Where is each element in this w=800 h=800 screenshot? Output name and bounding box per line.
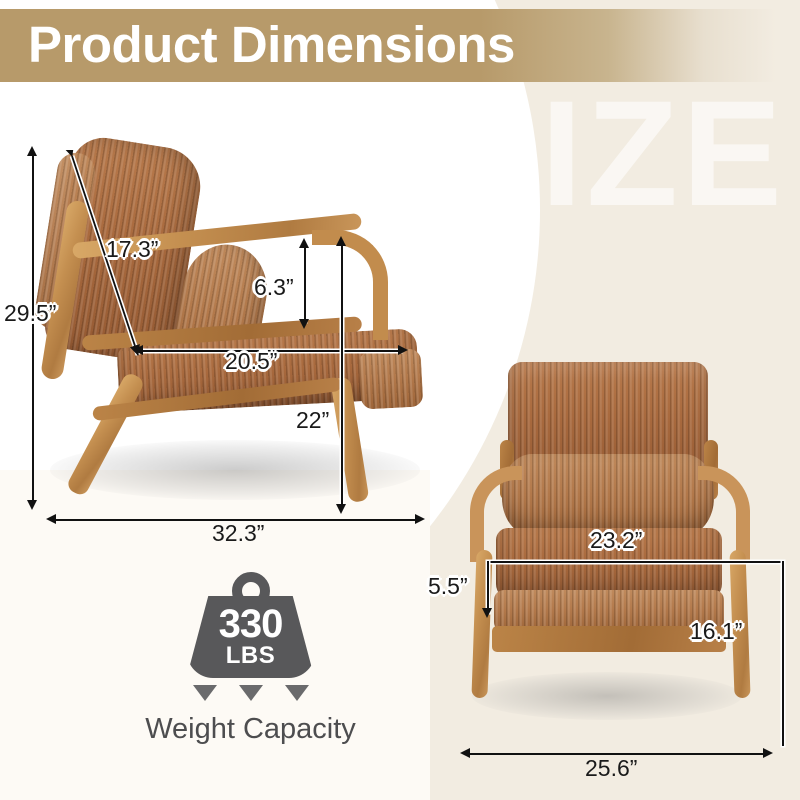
width-arrow-left: [460, 748, 470, 758]
dim-arm-above-seat: 6.3”: [254, 274, 294, 301]
dim-arm-height: 22”: [296, 407, 329, 434]
armgap-arrow-bottom: [299, 319, 309, 329]
front-chair-shadow: [472, 672, 742, 720]
seatdepth-arrow-left: [133, 345, 143, 355]
armgap-line: [304, 246, 306, 322]
dim-seat-height: 16.1”: [690, 618, 742, 645]
down-triangle-icon-2: [239, 685, 263, 701]
dim-overall-depth: 32.3”: [212, 520, 264, 547]
size-watermark: SIZE: [437, 78, 786, 228]
dim-seat-width: 23.2”: [590, 527, 642, 554]
height-line: [32, 154, 34, 506]
height-arrow-bottom: [27, 500, 37, 510]
side-seat-front-lip: [359, 348, 424, 409]
height-arrow-top: [27, 146, 37, 156]
armgap-arrow-top: [299, 238, 309, 248]
dim-overall-width: 25.6”: [585, 755, 637, 782]
weight-capacity-label: Weight Capacity: [128, 713, 373, 746]
armheight-line: [341, 244, 343, 509]
front-lumbar-pillow: [502, 454, 714, 536]
armheight-arrow-bottom: [336, 504, 346, 514]
weight-arrow-row: [128, 685, 373, 701]
armheight-arrow-top: [336, 236, 346, 246]
infographic-canvas: SIZE Product Dimensions 29: [0, 0, 800, 800]
down-triangle-icon-1: [193, 685, 217, 701]
dim-overall-height: 29.5”: [4, 300, 56, 327]
depth-arrow-left: [46, 514, 56, 524]
seatwidth-line: [488, 561, 783, 563]
seatheight-line: [782, 561, 784, 746]
dim-seat-depth: 20.5”: [225, 348, 277, 375]
weight-number: 330: [187, 604, 315, 644]
weight-icon: 330 LBS: [187, 572, 315, 678]
down-triangle-icon-3: [285, 685, 309, 701]
cushion-thickness-arrow: [482, 608, 492, 618]
seatdepth-arrow-right: [398, 345, 408, 355]
cushion-thickness-line: [487, 561, 489, 613]
dim-backrest-height: 17.3”: [106, 236, 158, 263]
page-title: Product Dimensions: [28, 12, 515, 78]
dim-cushion-thickness: 5.5”: [428, 573, 468, 600]
depth-arrow-right: [415, 514, 425, 524]
width-arrow-right: [763, 748, 773, 758]
weight-unit: LBS: [187, 644, 315, 668]
front-left-front-leg: [471, 550, 492, 698]
weight-capacity-block: 330 LBS Weight Capacity: [128, 572, 373, 746]
